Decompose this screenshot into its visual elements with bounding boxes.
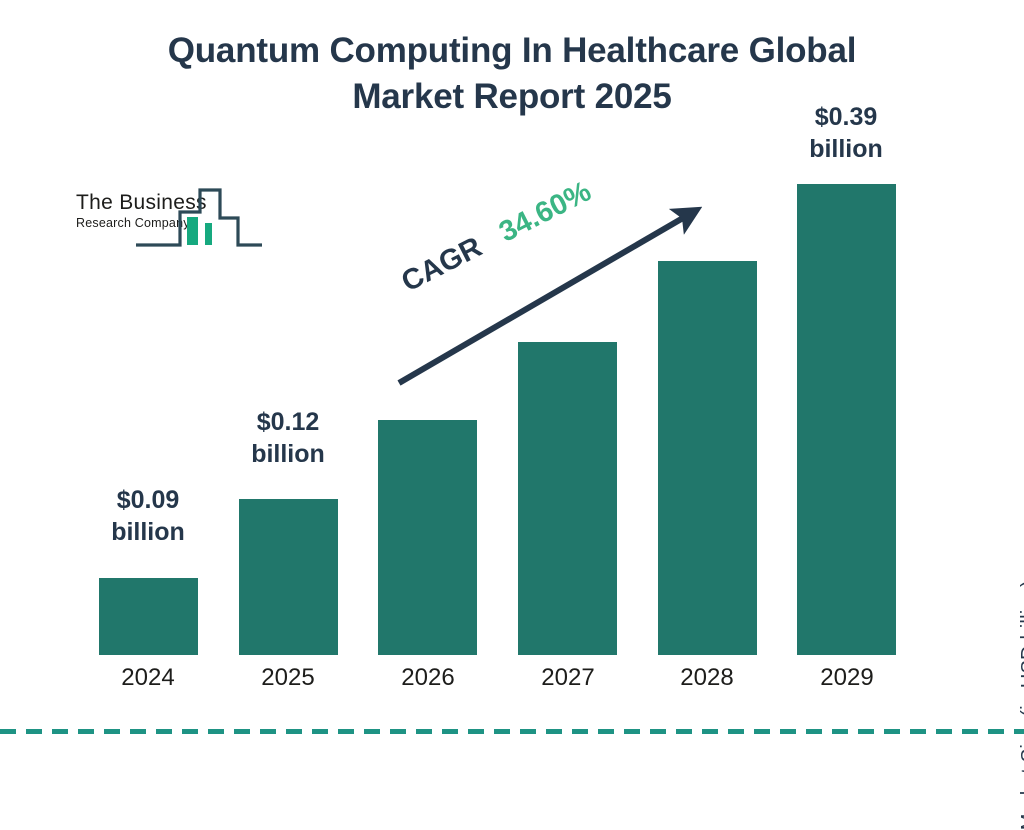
bar-value-label-2029: $0.39 billion xyxy=(781,101,911,165)
y-axis-label: Market Size (in USD billion) xyxy=(1018,580,1024,830)
bar-unit-2024: billion xyxy=(83,516,213,548)
x-tick-2025: 2025 xyxy=(223,664,353,692)
footer-divider xyxy=(0,729,1024,734)
bar-2024[interactable] xyxy=(99,578,198,655)
x-tick-2029: 2029 xyxy=(782,664,912,692)
chart-canvas: Quantum Computing In Healthcare Global M… xyxy=(0,0,1024,768)
bar-value-2029: $0.39 xyxy=(781,101,911,133)
x-tick-2024: 2024 xyxy=(83,664,213,692)
bar-2029[interactable] xyxy=(797,184,896,655)
x-tick-2026: 2026 xyxy=(363,664,493,692)
bar-value-label-2025: $0.12 billion xyxy=(223,406,353,470)
bar-value-label-2024: $0.09 billion xyxy=(83,484,213,548)
bar-value-2024: $0.09 xyxy=(83,484,213,516)
bar-unit-2029: billion xyxy=(781,133,911,165)
bar-value-2025: $0.12 xyxy=(223,406,353,438)
bar-2028[interactable] xyxy=(658,261,757,655)
bar-2026[interactable] xyxy=(378,420,477,655)
x-tick-2027: 2027 xyxy=(503,664,633,692)
cagr-label: CAGR xyxy=(397,231,488,298)
plot-area: $0.09 billion $0.12 billion $0.39 billio… xyxy=(0,0,1024,768)
bar-unit-2025: billion xyxy=(223,438,353,470)
bar-2027[interactable] xyxy=(518,342,617,655)
bar-2025[interactable] xyxy=(239,499,338,655)
cagr-value: 34.60% xyxy=(494,175,596,248)
cagr-annotation: CAGR 34.60% xyxy=(397,175,597,299)
x-tick-2028: 2028 xyxy=(642,664,772,692)
